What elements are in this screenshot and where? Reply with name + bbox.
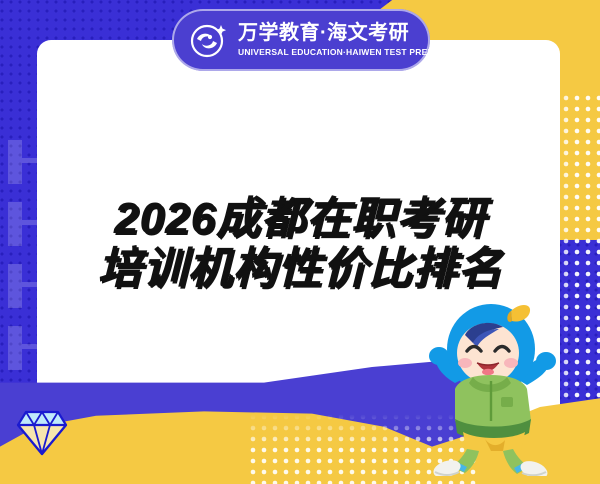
swirl-hands-emblem-icon <box>188 19 230 61</box>
logo-badge-text: 万学教育·海文考研 UNIVERSAL EDUCATION·HAIWEN TES… <box>238 23 433 57</box>
poster-canvas: 万学教育·海文考研 UNIVERSAL EDUCATION·HAIWEN TES… <box>0 0 600 484</box>
hooded-child-mascot <box>415 301 575 476</box>
diamond-icon <box>16 408 68 456</box>
logo-badge: 万学教育·海文考研 UNIVERSAL EDUCATION·HAIWEN TES… <box>172 9 430 71</box>
brand-name-en: UNIVERSAL EDUCATION·HAIWEN TEST PREP <box>238 48 433 57</box>
brand-name-cn: 万学教育·海文考研 <box>238 23 433 43</box>
